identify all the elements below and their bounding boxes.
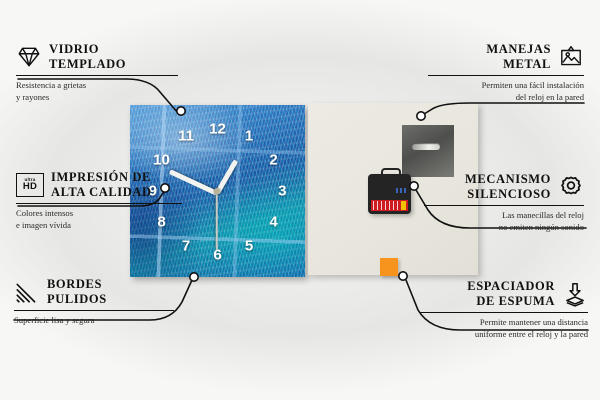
callout-description: Permiten una fácil instalación del reloj…: [428, 80, 584, 103]
callout-impresion-alta-calidad[interactable]: ultra HD IMPRESIÓN DE ALTA CALIDAD Color…: [16, 170, 182, 231]
callout-bordes-pulidos[interactable]: BORDES PULIDOS Superficie lisa y segura: [14, 277, 174, 327]
clock-numeral: 3: [278, 183, 286, 200]
clock-numeral: 12: [209, 121, 226, 138]
clock-numeral: 10: [153, 152, 170, 169]
callout-description: Las manecillas del reloj no emiten ningú…: [424, 210, 584, 233]
callout-description: Colores intensos e imagen vívida: [16, 208, 182, 231]
clock-numeral: 5: [245, 238, 253, 255]
mechanism-label: [371, 200, 408, 211]
framed-picture-icon: [558, 44, 584, 70]
clock-numeral: 1: [245, 127, 253, 144]
mechanism-detail: [396, 188, 408, 193]
callout-divider: [16, 75, 178, 77]
mechanism-label-chip: [401, 201, 406, 210]
callout-divider: [420, 312, 588, 314]
callout-title: IMPRESIÓN DE ALTA CALIDAD: [51, 170, 152, 200]
callout-title: ESPACIADOR DE ESPUMA: [467, 279, 555, 309]
clock-second-hand: [216, 192, 218, 250]
callout-divider: [16, 203, 182, 205]
callout-header: MANEJAS METAL: [428, 42, 584, 72]
callout-title: VIDRIO TEMPLADO: [49, 42, 126, 72]
callout-mecanismo-silencioso[interactable]: MECANISMO SILENCIOSO Las manecillas del …: [424, 172, 584, 233]
callout-header: MECANISMO SILENCIOSO: [424, 172, 584, 202]
down-arrow-layers-icon: [562, 281, 588, 307]
ultra-hd-icon: ultra HD: [16, 173, 44, 197]
callout-title: BORDES PULIDOS: [47, 277, 107, 307]
clock-mechanism: [368, 174, 411, 214]
infographic-canvas: 12 1 2 3 4 5 6 7 8 9 10 11: [0, 0, 600, 400]
clock-numeral: 11: [178, 127, 194, 144]
clock-center-pin: [214, 188, 220, 194]
callout-divider: [428, 75, 584, 77]
foam-spacer: [380, 258, 398, 276]
callout-description: Permite mantener una distancia uniforme …: [420, 317, 588, 340]
mechanism-lug: [381, 168, 401, 178]
clock-numeral: 2: [269, 152, 277, 169]
hanger-slot: [412, 143, 440, 150]
callout-description: Superficie lisa y segura: [14, 315, 174, 327]
callout-header: ultra HD IMPRESIÓN DE ALTA CALIDAD: [16, 170, 182, 200]
callout-header: VIDRIO TEMPLADO: [16, 42, 178, 72]
callout-title: MANEJAS METAL: [486, 42, 551, 72]
callout-header: BORDES PULIDOS: [14, 277, 174, 307]
callout-vidrio-templado[interactable]: VIDRIO TEMPLADO Resistencia a grietas y …: [16, 42, 178, 103]
callout-divider: [424, 205, 584, 207]
callout-title: MECANISMO SILENCIOSO: [465, 172, 551, 202]
callout-description: Resistencia a grietas y rayones: [16, 80, 178, 103]
callout-manejas-metal[interactable]: MANEJAS METAL Permiten una fácil instala…: [428, 42, 584, 103]
diamond-icon: [16, 44, 42, 70]
polished-edge-icon: [14, 279, 40, 305]
gear-icon: [558, 174, 584, 200]
callout-espaciador-espuma[interactable]: ESPACIADOR DE ESPUMA Permite mantener un…: [420, 279, 588, 340]
clock-numeral: 7: [182, 238, 190, 255]
callout-header: ESPACIADOR DE ESPUMA: [420, 279, 588, 309]
metal-hanger-plate: [402, 125, 454, 177]
callout-divider: [14, 310, 174, 312]
clock-numeral: 4: [269, 213, 277, 230]
